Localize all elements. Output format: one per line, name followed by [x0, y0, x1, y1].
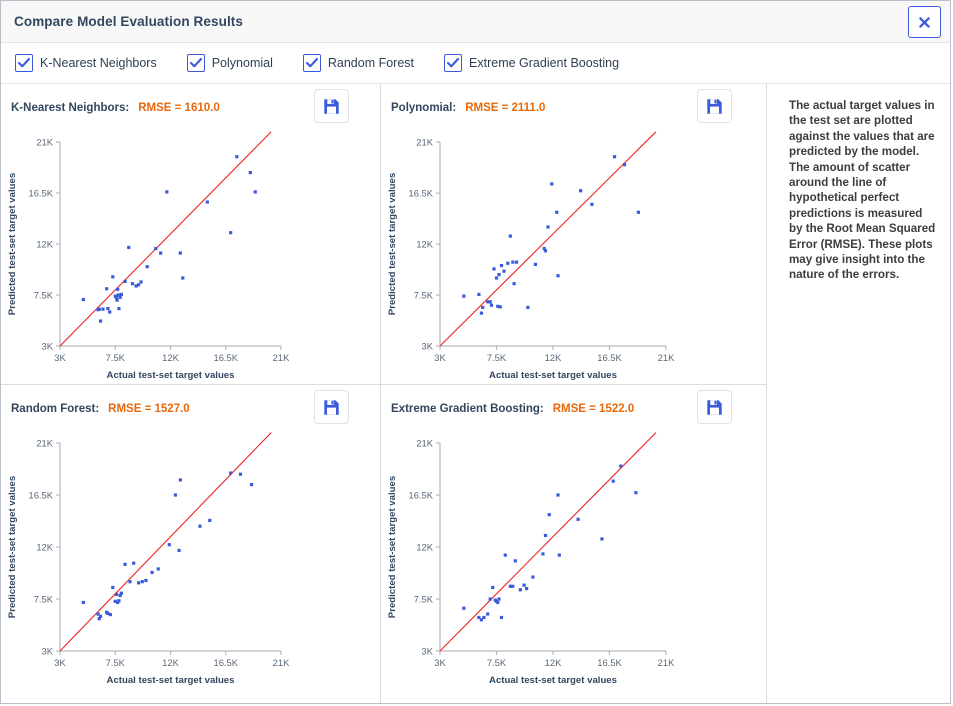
svg-text:16.5K: 16.5K [409, 489, 434, 500]
svg-text:21K: 21K [658, 657, 675, 668]
scatter-plot-xgb: 3K7.5K12K16.5K21K3K7.5K12K16.5K21KActual… [381, 425, 686, 692]
svg-text:21K: 21K [36, 136, 53, 147]
page-title: Compare Model Evaluation Results [14, 14, 243, 29]
chart-title-random-forest: Random Forest: [11, 403, 99, 415]
scatter-plot-knn: 3K7.5K12K16.5K21K3K7.5K12K16.5K21KActual… [1, 124, 301, 385]
svg-text:21K: 21K [416, 437, 433, 448]
svg-text:12K: 12K [162, 657, 179, 668]
svg-text:16.5K: 16.5K [597, 657, 622, 668]
svg-text:Predicted test-set target valu: Predicted test-set target values [387, 476, 398, 618]
chart-panel-polynomial: Polynomial: RMSE = 2111.0 3K7.5K12K16.5K… [381, 84, 766, 385]
info-description: The actual target values in the test set… [789, 98, 938, 283]
svg-text:3K: 3K [434, 657, 446, 668]
svg-text:3K: 3K [54, 657, 66, 668]
compare-model-evaluation-dialog: Compare Model Evaluation Results K-Neare… [0, 0, 951, 704]
svg-text:7.5K: 7.5K [106, 352, 126, 363]
checkbox-label-polynomial: Polynomial [212, 56, 273, 70]
save-chart-button-polynomial[interactable] [697, 89, 732, 123]
chart-header-polynomial: Polynomial: RMSE = 2111.0 [391, 102, 545, 114]
floppy-disk-save-icon [323, 98, 340, 115]
svg-text:7.5K: 7.5K [106, 657, 126, 668]
checkbox-item-random-forest[interactable]: Random Forest [303, 54, 414, 72]
chart-rmse-knn: RMSE = 1610.0 [138, 102, 220, 114]
chart-panel-random-forest: Random Forest: RMSE = 1527.0 3K7.5K12K16… [1, 385, 381, 703]
svg-text:3K: 3K [42, 645, 54, 656]
chart-rmse-xgb: RMSE = 1522.0 [553, 403, 635, 415]
svg-text:Actual test-set target values: Actual test-set target values [489, 370, 617, 381]
checkmark-icon [306, 58, 318, 68]
checkbox-label-knn: K-Nearest Neighbors [40, 56, 157, 70]
svg-text:7.5K: 7.5K [34, 593, 54, 604]
svg-text:16.5K: 16.5K [409, 187, 434, 198]
svg-text:21K: 21K [273, 657, 290, 668]
svg-text:7.5K: 7.5K [487, 657, 507, 668]
checkbox-label-random-forest: Random Forest [328, 56, 414, 70]
chart-title-polynomial: Polynomial: [391, 102, 456, 114]
svg-text:Predicted test-set target valu: Predicted test-set target values [387, 173, 398, 315]
svg-text:16.5K: 16.5K [29, 489, 54, 500]
svg-text:Actual test-set target values: Actual test-set target values [489, 675, 617, 686]
svg-text:7.5K: 7.5K [487, 352, 507, 363]
svg-text:21K: 21K [273, 352, 290, 363]
svg-text:3K: 3K [422, 645, 434, 656]
svg-text:16.5K: 16.5K [214, 352, 239, 363]
svg-text:7.5K: 7.5K [414, 593, 434, 604]
svg-text:Actual test-set target values: Actual test-set target values [107, 675, 235, 686]
checkmark-icon [447, 58, 459, 68]
svg-text:7.5K: 7.5K [34, 289, 54, 300]
svg-text:3K: 3K [422, 340, 434, 351]
save-chart-button-xgb[interactable] [697, 390, 732, 424]
svg-text:7.5K: 7.5K [414, 289, 434, 300]
svg-text:12K: 12K [545, 657, 562, 668]
checkmark-icon [190, 58, 202, 68]
svg-text:16.5K: 16.5K [597, 352, 622, 363]
checkbox-knn[interactable] [15, 54, 33, 72]
checkbox-polynomial[interactable] [187, 54, 205, 72]
chart-header-xgb: Extreme Gradient Boosting: RMSE = 1522.0 [391, 403, 634, 415]
svg-text:3K: 3K [54, 352, 66, 363]
svg-text:Predicted test-set target valu: Predicted test-set target values [7, 173, 18, 315]
svg-text:12K: 12K [162, 352, 179, 363]
model-filter-row: K-Nearest Neighbors Polynomial R [1, 43, 950, 84]
floppy-disk-save-icon [323, 399, 340, 416]
dialog-titlebar: Compare Model Evaluation Results [1, 1, 950, 43]
svg-text:21K: 21K [658, 352, 675, 363]
dialog-body: K-Nearest Neighbors: RMSE = 1610.0 3K7.5… [1, 84, 950, 703]
chart-title-xgb: Extreme Gradient Boosting: [391, 403, 544, 415]
chart-rmse-random-forest: RMSE = 1527.0 [108, 403, 190, 415]
floppy-disk-save-icon [706, 98, 723, 115]
save-chart-button-knn[interactable] [314, 89, 349, 123]
svg-text:3K: 3K [42, 340, 54, 351]
checkbox-random-forest[interactable] [303, 54, 321, 72]
svg-text:12K: 12K [416, 541, 433, 552]
chart-panel-knn: K-Nearest Neighbors: RMSE = 1610.0 3K7.5… [1, 84, 381, 385]
checkbox-item-k-nearest-neighbors[interactable]: K-Nearest Neighbors [15, 54, 157, 72]
checkbox-item-polynomial[interactable]: Polynomial [187, 54, 273, 72]
svg-text:21K: 21K [416, 136, 433, 147]
scatter-plot-random-forest: 3K7.5K12K16.5K21K3K7.5K12K16.5K21KActual… [1, 425, 301, 692]
chart-rmse-polynomial: RMSE = 2111.0 [465, 102, 545, 114]
scatter-plot-polynomial: 3K7.5K12K16.5K21K3K7.5K12K16.5K21KActual… [381, 124, 686, 385]
chart-header-random-forest: Random Forest: RMSE = 1527.0 [11, 403, 190, 415]
checkbox-label-xgb: Extreme Gradient Boosting [469, 56, 619, 70]
checkbox-xgb[interactable] [444, 54, 462, 72]
chart-header-knn: K-Nearest Neighbors: RMSE = 1610.0 [11, 102, 220, 114]
floppy-disk-save-icon [706, 399, 723, 416]
svg-text:12K: 12K [36, 541, 53, 552]
checkmark-icon [18, 58, 30, 68]
close-icon [918, 16, 931, 29]
svg-text:12K: 12K [416, 238, 433, 249]
svg-text:16.5K: 16.5K [214, 657, 239, 668]
chart-title-knn: K-Nearest Neighbors: [11, 102, 129, 114]
chart-panel-xgb: Extreme Gradient Boosting: RMSE = 1522.0… [381, 385, 766, 703]
close-button[interactable] [908, 6, 941, 38]
checkbox-item-extreme-gradient-boosting[interactable]: Extreme Gradient Boosting [444, 54, 619, 72]
svg-text:Actual test-set target values: Actual test-set target values [107, 370, 235, 381]
chart-grid: K-Nearest Neighbors: RMSE = 1610.0 3K7.5… [1, 84, 767, 703]
svg-text:12K: 12K [36, 238, 53, 249]
save-chart-button-random-forest[interactable] [314, 390, 349, 424]
svg-text:12K: 12K [545, 352, 562, 363]
svg-text:21K: 21K [36, 437, 53, 448]
svg-text:Predicted test-set target valu: Predicted test-set target values [7, 476, 18, 618]
svg-text:3K: 3K [434, 352, 446, 363]
info-sidebar: The actual target values in the test set… [767, 84, 950, 703]
svg-text:16.5K: 16.5K [29, 187, 54, 198]
